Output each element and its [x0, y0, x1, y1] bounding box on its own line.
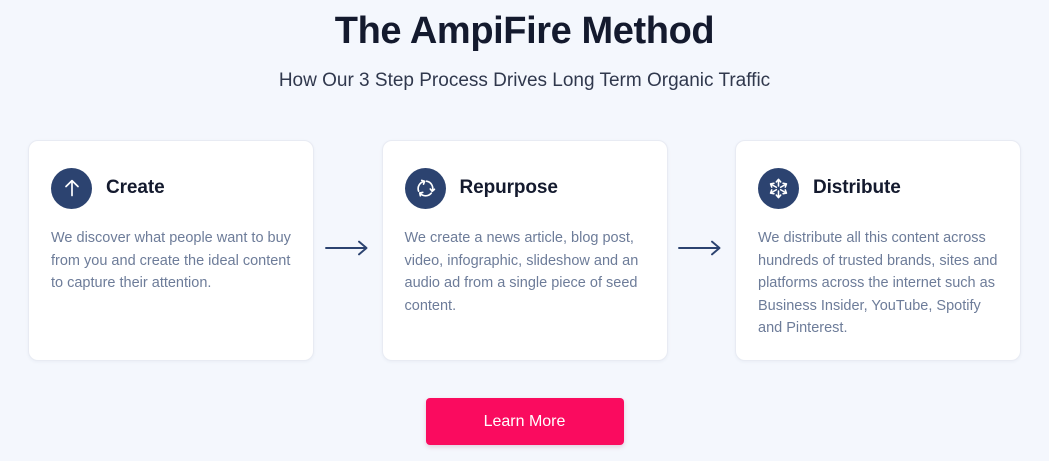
step-card-header: Distribute — [758, 165, 998, 211]
step-card-body: We distribute all this content across hu… — [758, 227, 998, 340]
section-header: The AmpiFire Method How Our 3 Step Proce… — [0, 0, 1049, 94]
arrow-right-icon — [324, 238, 372, 263]
ampifire-method-section: The AmpiFire Method How Our 3 Step Proce… — [0, 0, 1049, 461]
arrow-right-icon — [677, 238, 725, 263]
page-subtitle: How Our 3 Step Process Drives Long Term … — [0, 68, 1049, 94]
steps-row: Create We discover what people want to b… — [28, 140, 1021, 361]
step-card-repurpose: Repurpose We create a news article, blog… — [382, 140, 668, 361]
distribute-arrows-icon — [758, 168, 799, 209]
step-card-header: Create — [51, 165, 291, 211]
step-card-create: Create We discover what people want to b… — [28, 140, 314, 361]
learn-more-button[interactable]: Learn More — [426, 398, 624, 445]
step-connector — [320, 140, 376, 361]
recycle-arrows-icon — [405, 168, 446, 209]
cta-container: Learn More — [0, 398, 1049, 445]
step-card-title: Distribute — [813, 177, 901, 199]
step-card-body: We create a news article, blog post, vid… — [405, 227, 645, 317]
step-card-distribute: Distribute We distribute all this conten… — [735, 140, 1021, 361]
step-card-body: We discover what people want to buy from… — [51, 227, 291, 295]
page-title: The AmpiFire Method — [0, 8, 1049, 54]
arrow-up-icon — [51, 168, 92, 209]
step-card-title: Create — [106, 177, 165, 199]
step-connector — [673, 140, 729, 361]
step-card-header: Repurpose — [405, 165, 645, 211]
step-card-title: Repurpose — [460, 177, 558, 199]
